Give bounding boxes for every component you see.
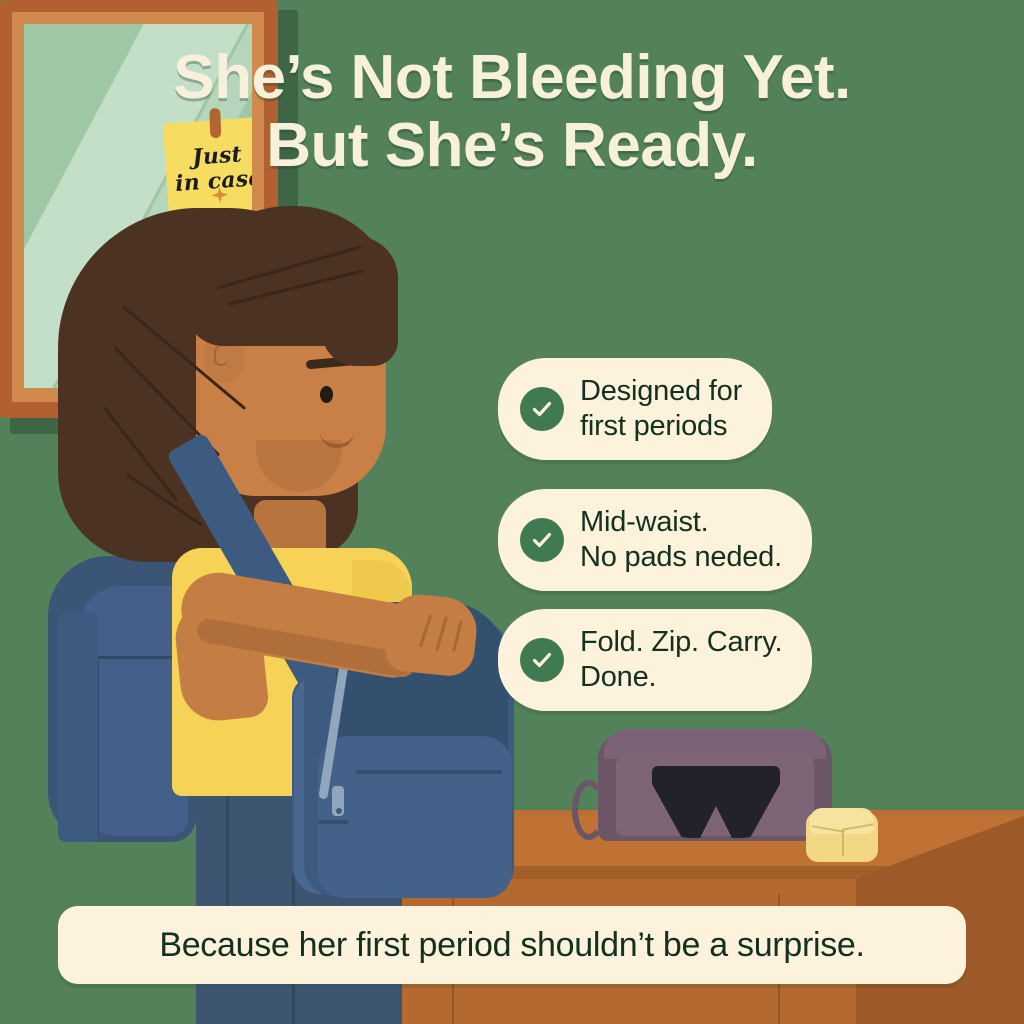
backpack-front-pocket <box>318 736 512 898</box>
eye <box>320 386 333 403</box>
feature-pill-3-label: Fold. Zip. Carry. Done. <box>580 625 782 695</box>
poster-canvas: Justin case <box>0 0 1024 1024</box>
check-circle-icon <box>520 387 564 431</box>
soap-crease <box>842 830 844 856</box>
feature-pill-1[interactable]: Designed for first periods <box>498 358 772 460</box>
backpack-side-strap <box>58 612 98 842</box>
page-title: She’s Not Bleeding Yet. But She’s Ready. <box>0 44 1024 180</box>
ear-inner <box>214 344 228 366</box>
tagline-text: Because her first period shouldn’t be a … <box>159 926 864 965</box>
feature-pill-2-label: Mid-waist. No pads neded. <box>580 505 782 575</box>
backpack-seam <box>86 656 182 659</box>
tagline-banner: Because her first period shouldn’t be a … <box>58 906 966 984</box>
feature-pill-1-label: Designed for first periods <box>580 374 742 444</box>
check-circle-icon <box>520 638 564 682</box>
feature-pill-3[interactable]: Fold. Zip. Carry. Done. <box>498 609 812 711</box>
headline-line-2: But She’s Ready. <box>40 112 984 180</box>
backpack-seam <box>318 820 348 824</box>
backpack-seam <box>356 770 502 774</box>
backpack-zipper-hole <box>336 808 342 814</box>
check-circle-icon <box>520 518 564 562</box>
headline-line-1: She’s Not Bleeding Yet. <box>40 44 984 112</box>
feature-pill-2[interactable]: Mid-waist. No pads neded. <box>498 489 812 591</box>
